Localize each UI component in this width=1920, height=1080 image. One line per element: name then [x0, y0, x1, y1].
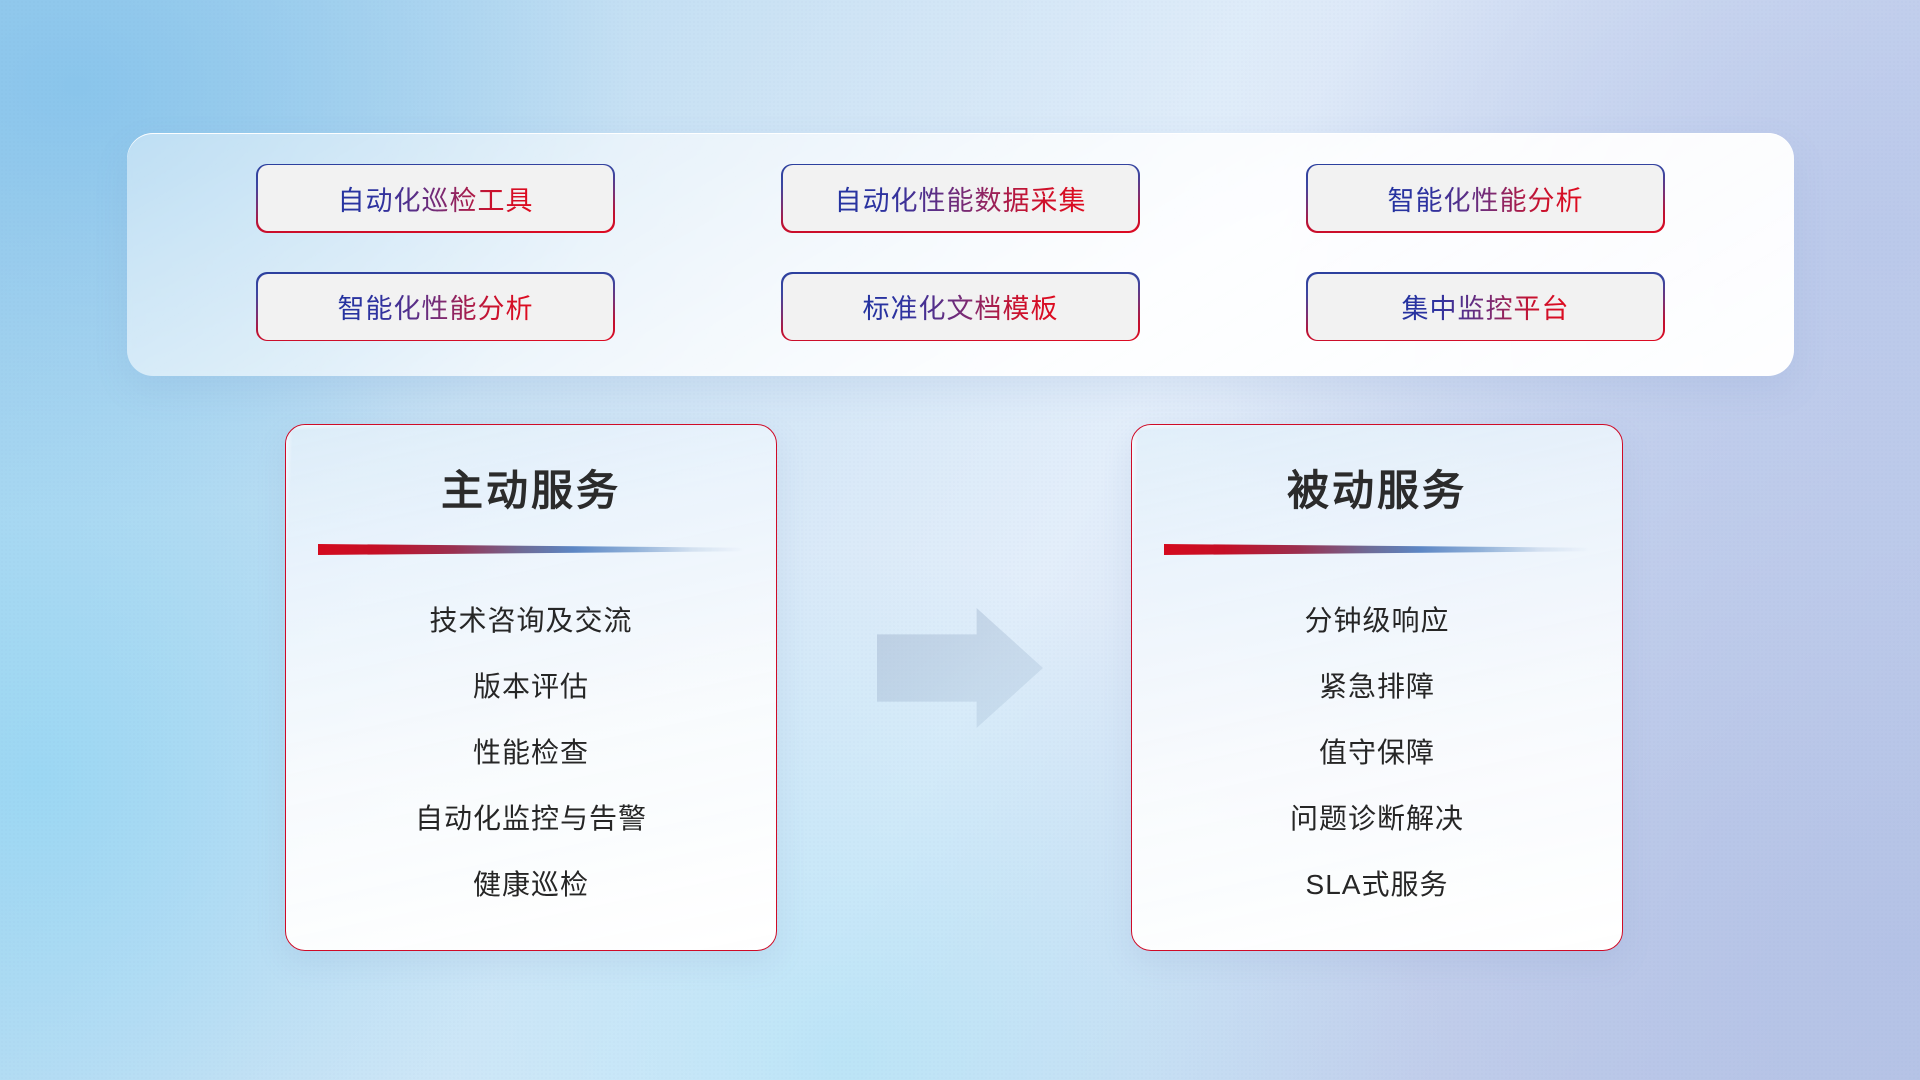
capability-panel: 自动化巡检工具 自动化性能数据采集 智能化性能分析 智能化性能分析 标准化文档模…	[127, 133, 1794, 376]
title-divider-proactive	[318, 544, 744, 555]
capability-pill-grid: 自动化巡检工具 自动化性能数据采集 智能化性能分析 智能化性能分析 标准化文档模…	[127, 133, 1794, 376]
list-item: 紧急排障	[1319, 665, 1435, 705]
capability-pill-6[interactable]: 集中监控平台	[1308, 274, 1663, 340]
list-item: 健康巡检	[473, 863, 589, 903]
capability-pill-4[interactable]: 智能化性能分析	[258, 274, 613, 340]
capability-pill-6-label: 集中监控平台	[1402, 287, 1570, 326]
capability-pill-3[interactable]: 智能化性能分析	[1308, 165, 1663, 231]
slide-stage: 自动化巡检工具 自动化性能数据采集 智能化性能分析 智能化性能分析 标准化文档模…	[0, 0, 1920, 1080]
capability-pill-5-label: 标准化文档模板	[863, 287, 1059, 326]
capability-pill-2-label: 自动化性能数据采集	[835, 179, 1087, 218]
title-divider-reactive	[1164, 544, 1590, 555]
capability-pill-1-label: 自动化巡检工具	[338, 179, 534, 218]
list-item: 版本评估	[473, 665, 589, 705]
capability-pill-4-label: 智能化性能分析	[338, 287, 534, 326]
list-item: 技术咨询及交流	[429, 599, 632, 639]
service-card-reactive: 被动服务 分钟级响应 紧急排障 值守保障 问题诊断解决 SLA式服务	[1131, 424, 1623, 951]
service-card-proactive-list: 技术咨询及交流 版本评估 性能检查 自动化监控与告警 健康巡检	[286, 599, 776, 903]
service-card-proactive: 主动服务 技术咨询及交流 版本评估 性能检查 自动化监控与告警 健康巡检	[285, 424, 777, 951]
service-card-reactive-title: 被动服务	[1132, 457, 1622, 518]
list-item: 性能检查	[473, 731, 589, 771]
list-item: SLA式服务	[1306, 863, 1449, 903]
capability-pill-3-label: 智能化性能分析	[1388, 179, 1584, 218]
list-item: 值守保障	[1319, 731, 1435, 771]
service-card-reactive-list: 分钟级响应 紧急排障 值守保障 问题诊断解决 SLA式服务	[1132, 599, 1622, 903]
capability-pill-2[interactable]: 自动化性能数据采集	[783, 165, 1138, 231]
list-item: 自动化监控与告警	[415, 797, 647, 837]
arrow-right-icon	[877, 608, 1043, 728]
list-item: 问题诊断解决	[1290, 797, 1464, 837]
list-item: 分钟级响应	[1304, 599, 1449, 639]
service-card-proactive-title: 主动服务	[286, 457, 776, 518]
capability-pill-1[interactable]: 自动化巡检工具	[258, 165, 613, 231]
capability-pill-5[interactable]: 标准化文档模板	[783, 274, 1138, 340]
